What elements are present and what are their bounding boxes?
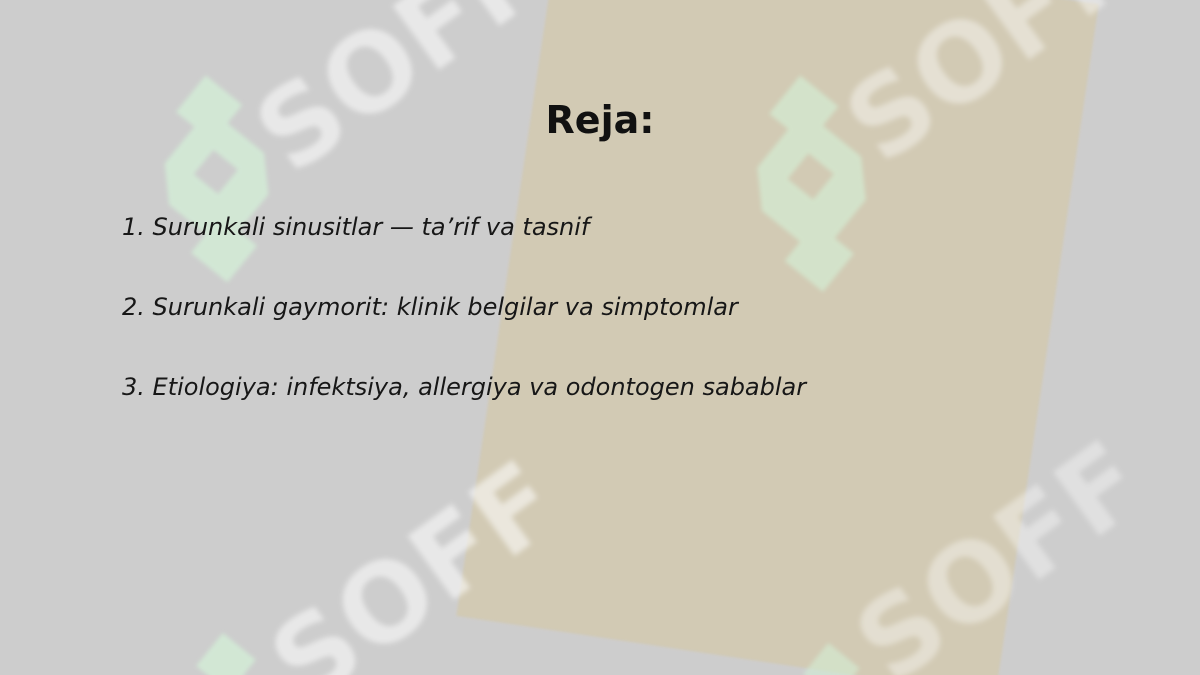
slide-content: Reja: 1. Surunkali sinusitlar — ta’rif v… bbox=[0, 0, 1200, 675]
agenda-list: 1. Surunkali sinusitlar — ta’rif va tasn… bbox=[122, 212, 1122, 402]
list-item: 1. Surunkali sinusitlar — ta’rif va tasn… bbox=[122, 212, 1122, 242]
list-item: 3. Etiologiya: infektsiya, allergiya va … bbox=[122, 372, 1122, 402]
presentation-slide: SOFF SOFF SOFF SOFF bbox=[0, 0, 1200, 675]
list-item: 2. Surunkali gaymorit: klinik belgilar v… bbox=[122, 292, 1122, 322]
slide-title: Reja: bbox=[0, 98, 1200, 142]
